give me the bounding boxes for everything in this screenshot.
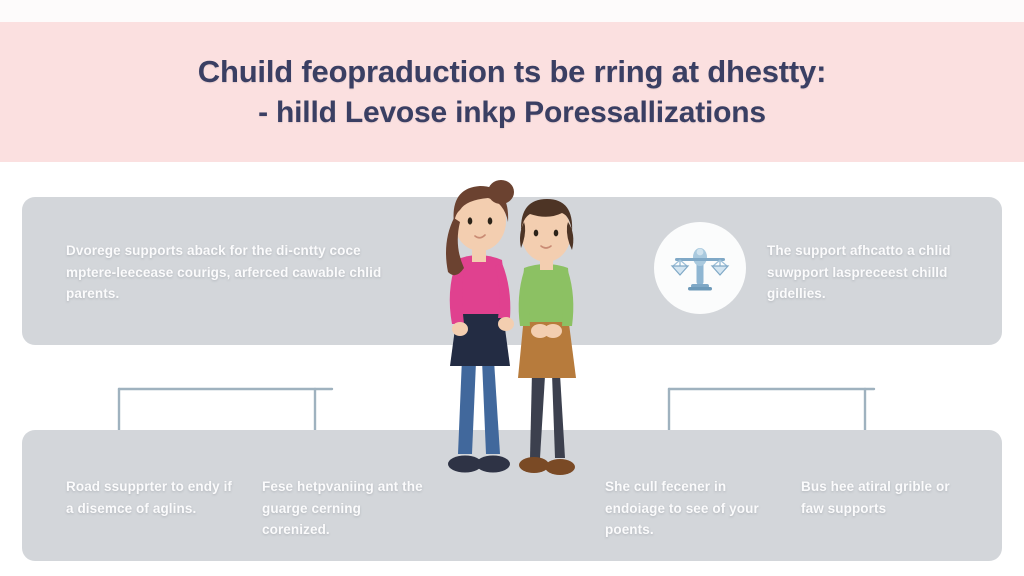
bottom-panel-item-4: Bus hee atiral grible or faw supports — [801, 476, 976, 519]
page-title-line-2: - hilld Levose inkp Poressallizations — [258, 96, 766, 130]
header-band: Chuild feopraduction ts be rring at dhes… — [0, 22, 1024, 162]
bottom-panel-item-1: Road ssupprter to endy if a disemce of a… — [66, 476, 236, 519]
top-panel-left-text: Dvorege supports aback for the di-cntty … — [66, 240, 396, 305]
two-parents-illustration — [420, 176, 620, 506]
page-title-line-1: Chuild feopraduction ts be rring at dhes… — [198, 54, 826, 90]
figure-left — [446, 180, 514, 473]
bottom-panel-item-3: She cull fecener in endoiage to see of y… — [605, 476, 775, 541]
infographic-canvas: Chuild feopraduction ts be rring at dhes… — [0, 0, 1024, 576]
top-panel-right-text: The support afhcatto a chlid suwpport la… — [767, 240, 999, 305]
scales-of-justice-icon — [654, 222, 746, 314]
bottom-panel-item-2: Fese hetpvaniing ant the guarge cerning … — [262, 476, 432, 541]
figure-right — [518, 199, 576, 475]
